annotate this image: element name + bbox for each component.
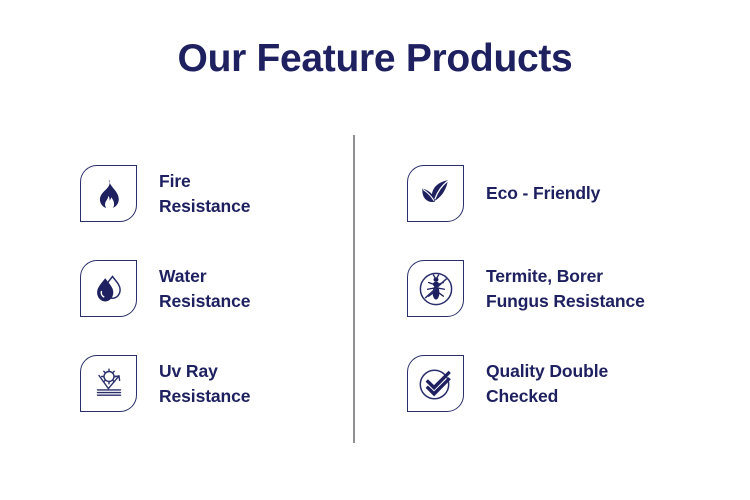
feature-item-eco-friendly[interactable]: Eco - Friendly [407,165,600,222]
feature-label: Eco - Friendly [486,181,600,206]
icon-box [407,355,464,412]
feature-label-line2: Resistance [159,289,250,314]
feature-label-line1: Quality Double [486,359,608,384]
icon-box [80,165,137,222]
feature-label: Uv Ray Resistance [159,359,250,409]
flame-icon [94,178,124,210]
no-insect-icon [418,271,454,307]
feature-label-line1: Water [159,264,250,289]
icon-box [80,260,137,317]
feature-label-line2: Resistance [159,194,250,219]
feature-label-line1: Uv Ray [159,359,250,384]
column-divider [353,135,355,443]
icon-box [407,260,464,317]
feature-item-uv-ray-resistance[interactable]: Uv Ray Resistance [80,355,250,412]
leaf-icon [419,179,453,209]
feature-item-termite-borer-fungus-resistance[interactable]: Termite, Borer Fungus Resistance [407,260,645,317]
feature-item-water-resistance[interactable]: Water Resistance [80,260,250,317]
uv-ray-sun-icon [92,367,126,401]
feature-item-fire-resistance[interactable]: Fire Resistance [80,165,250,222]
water-drop-icon [92,273,125,305]
feature-label: Fire Resistance [159,169,250,219]
feature-label-line1: Termite, Borer [486,264,645,289]
feature-label-line2: Checked [486,384,608,409]
feature-label: Quality Double Checked [486,359,608,409]
page-title: Our Feature Products [0,38,750,81]
feature-item-quality-double-checked[interactable]: Quality Double Checked [407,355,608,412]
feature-label-line2: Fungus Resistance [486,289,645,314]
feature-label-line1: Fire [159,169,250,194]
feature-label-line2: Resistance [159,384,250,409]
icon-box [80,355,137,412]
feature-label-line1: Eco - Friendly [486,181,600,206]
double-check-icon [418,367,454,401]
feature-label: Water Resistance [159,264,250,314]
icon-box [407,165,464,222]
feature-label: Termite, Borer Fungus Resistance [486,264,645,314]
